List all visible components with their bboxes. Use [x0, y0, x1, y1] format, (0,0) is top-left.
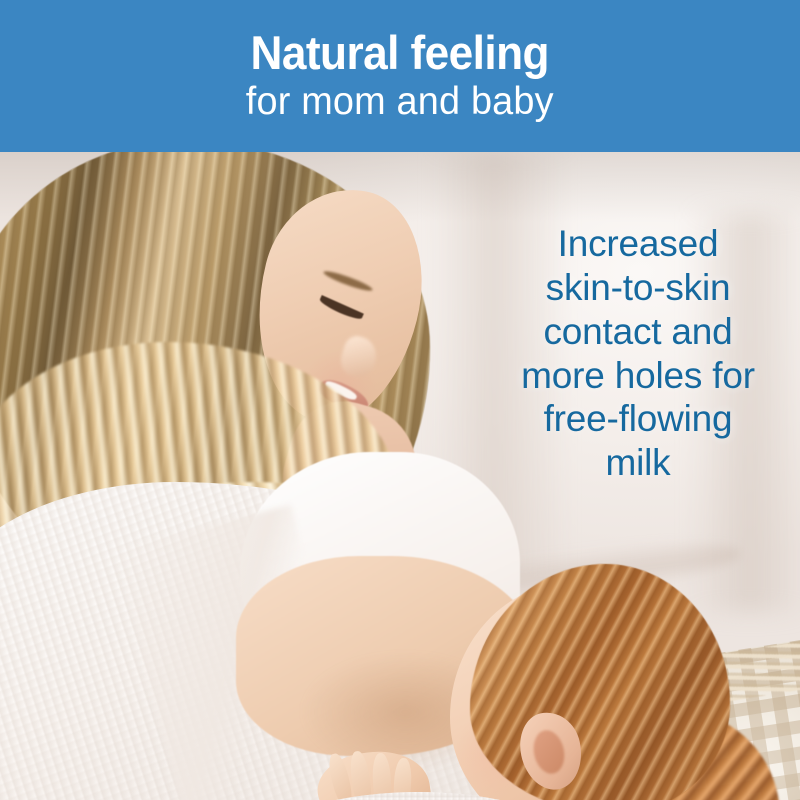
callout-line: skin-to-skin [492, 266, 784, 310]
callout-line: more holes for [492, 354, 784, 398]
callout-line: milk [492, 441, 784, 485]
header-banner: Natural feeling for mom and baby [0, 0, 800, 152]
callout-text: Increased skin-to-skin contact and more … [492, 222, 784, 485]
callout-line: contact and [492, 310, 784, 354]
callout-line: Increased [492, 222, 784, 266]
callout-line: free-flowing [492, 397, 784, 441]
banner-subtitle: for mom and baby [246, 81, 554, 124]
banner-title: Natural feeling [251, 29, 549, 77]
promo-panel: Natural feeling for mom and baby [0, 0, 800, 800]
